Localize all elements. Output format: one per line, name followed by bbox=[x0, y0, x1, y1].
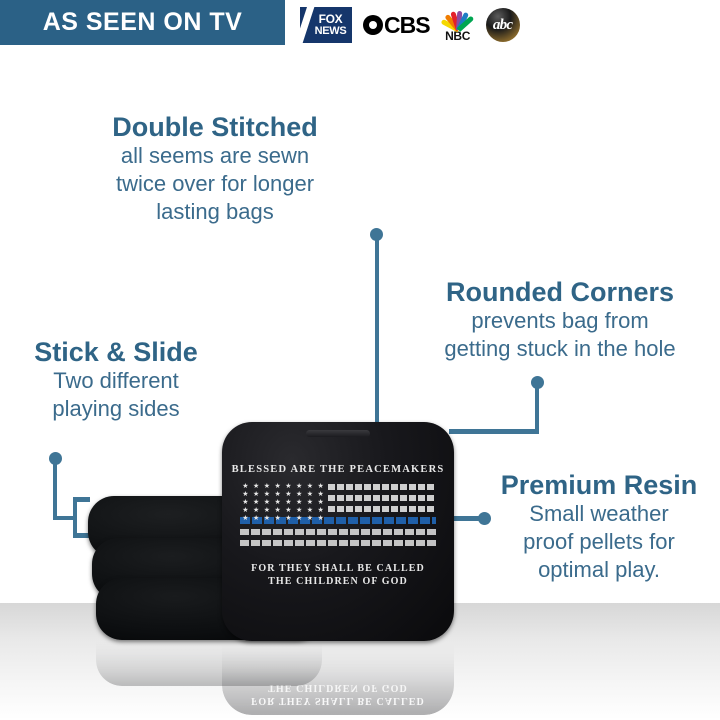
connector-line-double-stitched bbox=[375, 236, 379, 432]
reflection-line-1: FOR THEY SHALL BE CALLED bbox=[222, 694, 454, 707]
nbc-logo: NBC bbox=[441, 8, 475, 42]
callout-body-line: Two different bbox=[0, 367, 232, 395]
thin-blue-line-flag-icon: ★★★★★★★★ ★★★★★★★★ ★★★★★★★★ ★★★★★★★★ ★★★★… bbox=[240, 482, 436, 556]
reflection-line-2: THE CHILDREN OF GOD bbox=[222, 681, 454, 694]
as-seen-on-tv-banner: AS SEEN ON TV bbox=[0, 0, 285, 45]
callout-body-line: all seems are sewn bbox=[0, 142, 430, 170]
network-logos-row: FOX NEWS CBS NBC abc bbox=[300, 4, 520, 46]
bag-seam bbox=[306, 430, 370, 437]
callout-body-line: getting stuck in the hole bbox=[400, 335, 720, 363]
nbc-logo-label: NBC bbox=[445, 30, 470, 42]
as-seen-on-tv-label: AS SEEN ON TV bbox=[43, 8, 243, 37]
fox-news-logo: FOX NEWS bbox=[300, 7, 352, 43]
callout-body-line: prevents bag from bbox=[400, 307, 720, 335]
bag-text-top: BLESSED ARE THE PEACEMAKERS bbox=[222, 464, 454, 475]
product-photo: FOR THEY SHALL BE CALLED THE CHILDREN OF… bbox=[0, 408, 720, 720]
callout-body-line: twice over for longer bbox=[0, 170, 430, 198]
callout-rounded-corners: Rounded Corners prevents bag from gettin… bbox=[400, 277, 720, 363]
bag-text-bottom-1: FOR THEY SHALL BE CALLED bbox=[222, 562, 454, 575]
callout-title: Stick & Slide bbox=[0, 337, 232, 367]
fox-logo-line1: FOX bbox=[310, 13, 343, 25]
abc-logo-label: abc bbox=[493, 17, 512, 34]
cbs-logo: CBS bbox=[363, 12, 430, 39]
nbc-peacock-icon bbox=[441, 8, 475, 30]
abc-logo: abc bbox=[486, 8, 520, 42]
callout-title: Rounded Corners bbox=[400, 277, 720, 307]
flag-canton-stars: ★★★★★★★★ ★★★★★★★★ ★★★★★★★★ ★★★★★★★★ ★★★★… bbox=[240, 482, 326, 522]
bag-reflection: FOR THEY SHALL BE CALLED THE CHILDREN OF… bbox=[222, 645, 454, 715]
featured-cornhole-bag: BLESSED ARE THE PEACEMAKERS ★★★★★★★★ ★★★… bbox=[222, 422, 454, 641]
callout-body-line: lasting bags bbox=[0, 198, 430, 226]
fox-logo-line2: NEWS bbox=[306, 25, 347, 37]
cbs-eye-icon bbox=[363, 15, 383, 35]
cbs-logo-label: CBS bbox=[384, 12, 430, 39]
callout-double-stitched: Double Stitched all seems are sewn twice… bbox=[0, 112, 430, 226]
callout-title: Double Stitched bbox=[0, 112, 430, 142]
bag-text-bottom-2: THE CHILDREN OF GOD bbox=[222, 575, 454, 588]
bag-artwork: BLESSED ARE THE PEACEMAKERS ★★★★★★★★ ★★★… bbox=[222, 464, 454, 588]
